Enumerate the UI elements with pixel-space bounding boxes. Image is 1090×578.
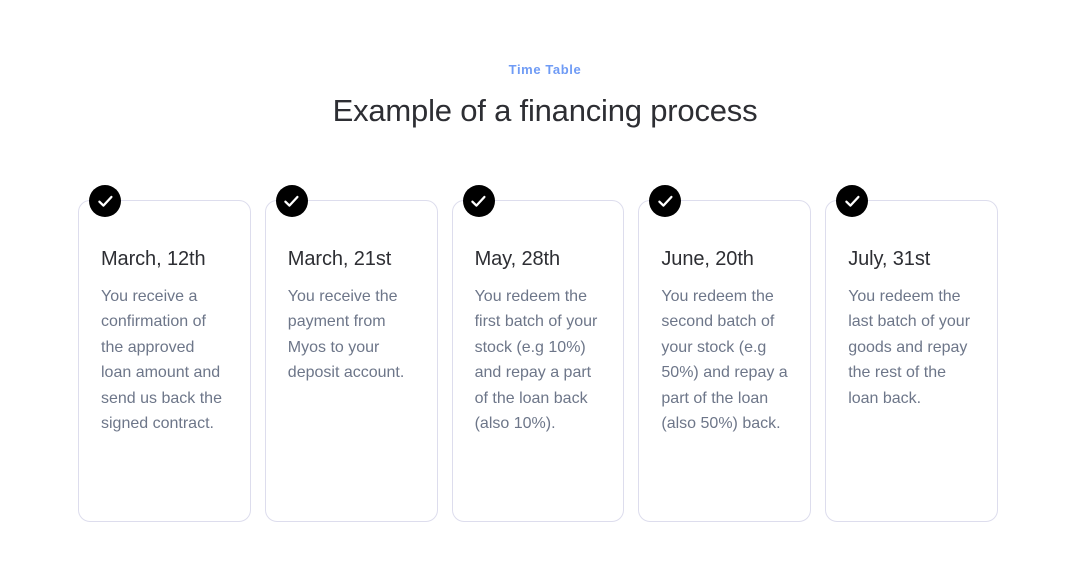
section-eyebrow: Time Table	[0, 61, 1090, 79]
timeline-card: June, 20th You redeem the second batch o…	[638, 200, 811, 522]
page-title: Example of a financing process	[0, 91, 1090, 131]
check-circle-icon	[649, 185, 681, 217]
timeline-card-date: July, 31st	[848, 246, 975, 272]
timeline-card-date: March, 12th	[101, 246, 228, 272]
timeline-card-description: You redeem the second batch of your stoc…	[661, 284, 788, 436]
check-circle-icon	[276, 185, 308, 217]
section-header: Time Table Example of a financing proces…	[0, 0, 1090, 131]
timeline-card: May, 28th You redeem the first batch of …	[452, 200, 625, 522]
timeline-card-date: March, 21st	[288, 246, 415, 272]
timeline-card-list: March, 12th You receive a confirmation o…	[78, 200, 998, 522]
timeline-card: March, 21st You receive the payment from…	[265, 200, 438, 522]
timeline-card-description: You redeem the first batch of your stock…	[475, 284, 602, 436]
page-root: Time Table Example of a financing proces…	[0, 0, 1090, 578]
timeline-card: July, 31st You redeem the last batch of …	[825, 200, 998, 522]
timeline-card-description: You receive a confirmation of the approv…	[101, 284, 228, 436]
timeline-card-date: June, 20th	[661, 246, 788, 272]
timeline-card-date: May, 28th	[475, 246, 602, 272]
timeline-card-description: You receive the payment from Myos to you…	[288, 284, 415, 386]
check-circle-icon	[89, 185, 121, 217]
check-circle-icon	[836, 185, 868, 217]
timeline-card-description: You redeem the last batch of your goods …	[848, 284, 975, 411]
check-circle-icon	[463, 185, 495, 217]
timeline-card: March, 12th You receive a confirmation o…	[78, 200, 251, 522]
